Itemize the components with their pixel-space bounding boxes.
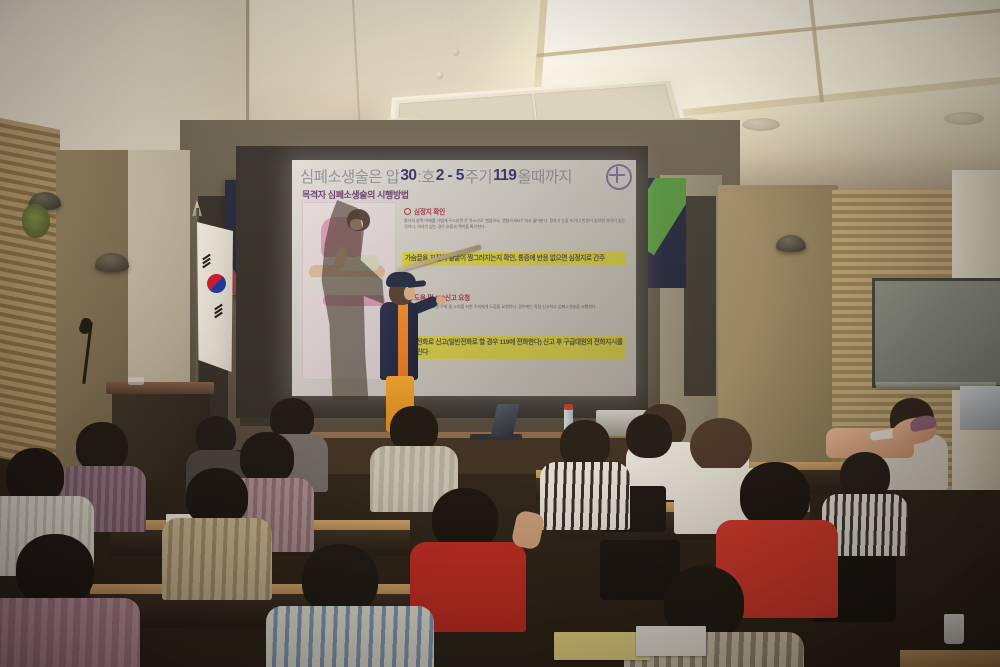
torso: [0, 598, 140, 667]
bullet-marker-icon: [404, 208, 411, 215]
slide-subtitle: 목격자 심폐소생술의 시행방법: [302, 188, 409, 201]
slide-title-part: 올때까지: [517, 165, 572, 187]
head: [690, 418, 752, 474]
ceiling-speaker: [944, 112, 984, 125]
wall-sconce: [776, 235, 806, 252]
lectern-top: [106, 382, 214, 394]
ceiling-speaker: [742, 118, 780, 131]
desk-row-2-right: [900, 650, 1000, 667]
head: [740, 462, 810, 528]
bullet-label: 심정지 확인: [414, 206, 445, 216]
presenter-face: [404, 286, 415, 300]
head: [626, 414, 672, 458]
slide-title: 심폐소생술은 압 30 :호 2 - 5 주기 119 올때까지: [300, 163, 630, 189]
whiteboard: [872, 278, 1000, 388]
organization-emblem-icon: [606, 164, 632, 190]
head: [76, 422, 128, 472]
sprinkler-head: [436, 72, 443, 79]
head: [240, 432, 294, 484]
slide-title-part: 30: [400, 167, 416, 185]
torso: [162, 518, 272, 600]
presenter-cap-brim: [408, 280, 427, 288]
slide-body-1: 환자의 양쪽 어깨를 가볍게 두드리면 큰 목소리로 '괜찮아요, 괜찮으세요?…: [404, 218, 626, 231]
presenter-jacket-stripe: [398, 304, 408, 380]
torso: [266, 606, 434, 667]
torso: [540, 462, 630, 530]
classroom-photo: 심폐소생술은 압 30 :호 2 - 5 주기 119 올때까지 목격자 심폐소…: [0, 0, 1000, 667]
slide-title-part: :호: [417, 165, 434, 187]
slide-title-part: 2 - 5: [436, 167, 464, 185]
head: [16, 534, 94, 606]
slide-title-part: 심폐소생술은 압: [300, 165, 399, 187]
head: [432, 488, 498, 550]
water-glass: [128, 377, 144, 385]
raised-hand: [511, 509, 546, 550]
wall-sconce: [95, 253, 129, 272]
potted-plant: [22, 204, 50, 238]
slide-bullet-1: 심정지 확인: [404, 206, 445, 216]
bottle-cap: [564, 404, 573, 410]
slide-title-part: 주기: [465, 165, 492, 187]
side-monitor: [960, 386, 1000, 430]
left-wall-wood-slats: [0, 118, 60, 470]
head: [302, 544, 378, 614]
flag-cloth: [197, 222, 233, 372]
dark-cabinet: [684, 196, 716, 396]
sprinkler-head: [452, 49, 459, 56]
open-book: [636, 626, 706, 656]
slide-highlight-2: 일반전화로 신고(일반전화로 할 경우 119에 전화한다) 신고 후 구급대원…: [402, 336, 626, 359]
paper-cup: [944, 614, 964, 644]
cpr-training-manikin: [826, 418, 944, 462]
head: [840, 452, 890, 500]
head: [560, 420, 610, 468]
presenter-hand: [436, 296, 446, 305]
slide-title-part: 119: [493, 167, 516, 185]
